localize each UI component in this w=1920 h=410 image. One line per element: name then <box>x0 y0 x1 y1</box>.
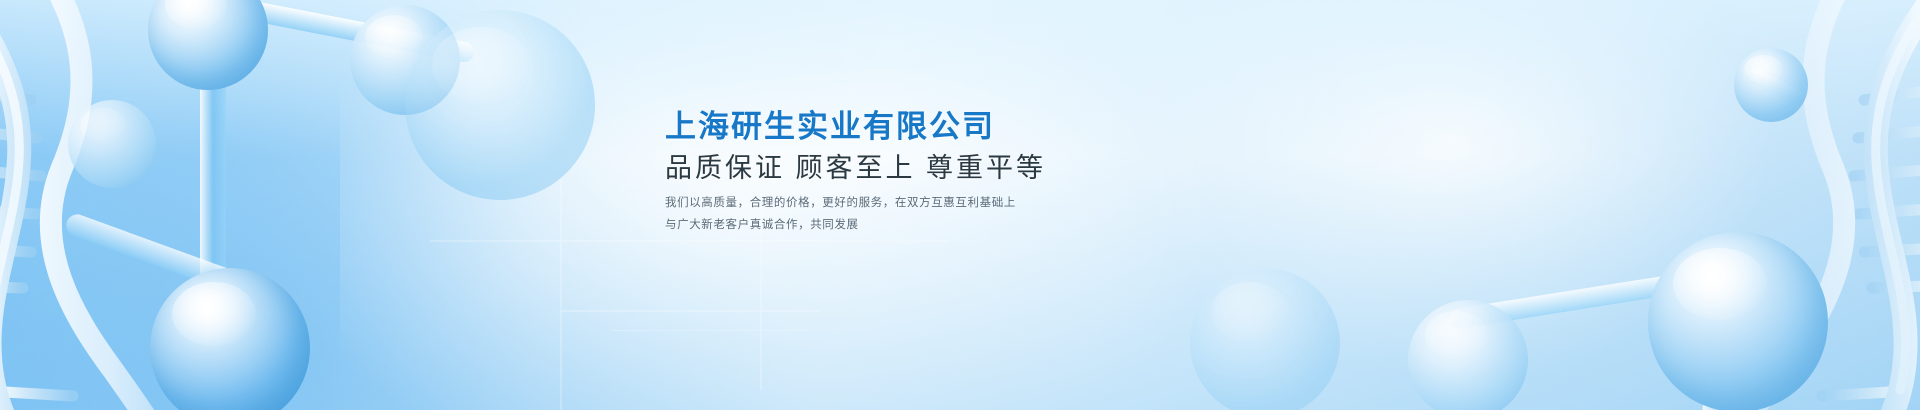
company-description: 我们以高质量，合理的价格，更好的服务，在双方互惠互利基础上 与广大新老客户真诚合… <box>665 195 1285 236</box>
company-banner: 上海研生实业有限公司 品质保证 顾客至上 尊重平等 我们以高质量，合理的价格，更… <box>0 0 1920 410</box>
dna-helix-icon <box>0 0 175 410</box>
company-title: 上海研生实业有限公司 <box>665 108 1285 147</box>
molecule-bond <box>200 60 226 290</box>
molecule-sphere <box>405 10 595 200</box>
description-line: 与广大新老客户真诚合作，共同发展 <box>665 217 1285 235</box>
banner-text-block: 上海研生实业有限公司 品质保证 顾客至上 尊重平等 我们以高质量，合理的价格，更… <box>665 108 1285 240</box>
molecule-sphere <box>1648 232 1828 410</box>
molecule-sphere <box>1190 268 1340 410</box>
molecule-sphere <box>1408 300 1528 410</box>
description-line: 我们以高质量，合理的价格，更好的服务，在双方互惠互利基础上 <box>665 195 1285 213</box>
company-slogan: 品质保证 顾客至上 尊重平等 <box>665 152 1285 186</box>
molecule-sphere <box>1734 48 1808 122</box>
molecule-sphere <box>68 100 156 188</box>
